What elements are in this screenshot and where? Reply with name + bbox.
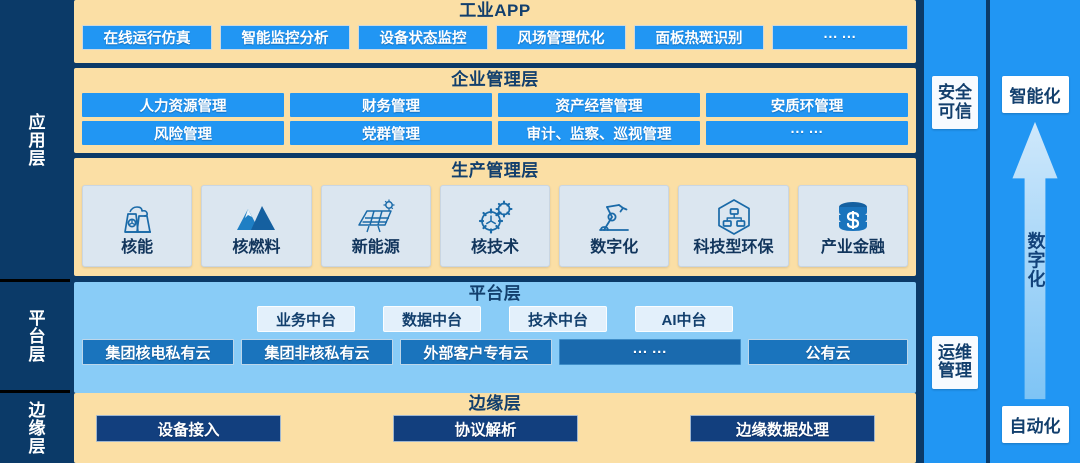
production-card-nuclear-power[interactable]: 核能 (82, 185, 192, 267)
ent-cell-audit-inspection[interactable]: 审计、监察、巡视管理 (498, 121, 700, 145)
mountains-icon (235, 196, 277, 238)
platform-title: 平台层 (82, 285, 908, 302)
cloud-external-customer-dedicated[interactable]: 外部客户专有云 (400, 339, 552, 365)
platform-band: 平台层 业务中台 数据中台 技术中台 AI中台 集团核电私有云 集团非核私有云 … (70, 282, 920, 393)
production-card-digitalization[interactable]: 数字化 (559, 185, 669, 267)
app-chip-more[interactable]: ··· ··· (772, 25, 908, 50)
architecture-diagram: 应用层 平台层 边缘层 工业APP 在线运行仿真 智能监控分析 设备状态监控 风… (0, 0, 1080, 463)
hexagon-network-icon (715, 196, 753, 238)
gears-radiation-icon (475, 196, 515, 238)
ent-cell-asset-operation[interactable]: 资产经营管理 (498, 93, 700, 117)
enterprise-row-1: 人力资源管理 财务管理 资产经营管理 安质环管理 (82, 93, 908, 117)
sidebar-item-edge-layer[interactable]: 边缘层 (0, 393, 70, 463)
production-label-nuclear-power: 核能 (121, 240, 153, 256)
production-label-tech-environmental: 科技型环保 (694, 240, 774, 256)
middleware-ai[interactable]: AI中台 (635, 306, 733, 332)
production-card-nuclear-fuel[interactable]: 核燃料 (201, 185, 311, 267)
middleware-business[interactable]: 业务中台 (257, 306, 355, 332)
production-management-panel: 生产管理层 核能 (74, 158, 916, 276)
cloud-more[interactable]: ··· ··· (559, 339, 741, 365)
pill-operations-management[interactable]: 运维管理 (932, 336, 978, 389)
sidebar-item-platform-layer[interactable]: 平台层 (0, 282, 70, 393)
industrial-app-title: 工业APP (82, 2, 908, 19)
ent-cell-more[interactable]: ··· ··· (706, 121, 908, 145)
sidebar-label-edge-layer: 边缘层 (25, 401, 44, 455)
app-chip-equipment-status[interactable]: 设备状态监控 (358, 25, 488, 50)
middleware-technology[interactable]: 技术中台 (509, 306, 607, 332)
production-card-nuclear-technology[interactable]: 核技术 (440, 185, 550, 267)
enterprise-grid: 人力资源管理 财务管理 资产经营管理 安质环管理 风险管理 党群管理 审计、监察… (82, 93, 908, 145)
ent-cell-hr[interactable]: 人力资源管理 (82, 93, 284, 117)
edge-button-device-access[interactable]: 设备接入 (96, 415, 281, 442)
layer-sidebar: 应用层 平台层 边缘层 (0, 0, 70, 463)
edge-button-edge-data-processing[interactable]: 边缘数据处理 (690, 415, 875, 442)
cross-cutting-column: 安全可信 运维管理 (924, 0, 986, 463)
production-card-new-energy[interactable]: 新能源 (321, 185, 431, 267)
production-card-tech-environmental[interactable]: 科技型环保 (678, 185, 788, 267)
app-chip-online-simulation[interactable]: 在线运行仿真 (82, 25, 212, 50)
maturity-column: 智能化 数字化 自动化 (990, 0, 1080, 463)
enterprise-row-2: 风险管理 党群管理 审计、监察、巡视管理 ··· ··· (82, 121, 908, 145)
pill-security-trusted[interactable]: 安全可信 (932, 76, 978, 129)
app-chip-wind-farm-optimization[interactable]: 风场管理优化 (496, 25, 626, 50)
app-chip-smart-monitoring[interactable]: 智能监控分析 (220, 25, 350, 50)
production-label-industrial-finance: 产业金融 (821, 240, 885, 256)
production-label-nuclear-fuel: 核燃料 (232, 240, 280, 256)
production-label-new-energy: 新能源 (352, 240, 400, 256)
production-title: 生产管理层 (82, 162, 908, 179)
nuclear-plant-icon (117, 196, 157, 238)
production-label-digitalization: 数字化 (590, 240, 638, 256)
ent-cell-party-group[interactable]: 党群管理 (290, 121, 492, 145)
ent-cell-risk[interactable]: 风险管理 (82, 121, 284, 145)
middleware-row: 业务中台 数据中台 技术中台 AI中台 (82, 306, 908, 332)
ent-cell-finance[interactable]: 财务管理 (290, 93, 492, 117)
industrial-app-chip-row: 在线运行仿真 智能监控分析 设备状态监控 风场管理优化 面板热斑识别 ··· ·… (82, 25, 908, 50)
production-card-row: 核能 核燃料 (82, 185, 908, 267)
edge-band: 边缘层 设备接入 协议解析 边缘数据处理 (70, 393, 920, 463)
maturity-arrow-label: 数字化 (1026, 231, 1045, 288)
production-card-industrial-finance[interactable]: 产业金融 (798, 185, 908, 267)
maturity-cap-automation: 自动化 (1002, 406, 1069, 443)
enterprise-title: 企业管理层 (82, 71, 908, 88)
sidebar-label-application-layer: 应用层 (25, 113, 44, 167)
cloud-group-nonnuclear-private[interactable]: 集团非核私有云 (241, 339, 393, 365)
cloud-public[interactable]: 公有云 (748, 339, 908, 365)
production-label-nuclear-technology: 核技术 (471, 240, 519, 256)
platform-panel: 平台层 业务中台 数据中台 技术中台 AI中台 集团核电私有云 集团非核私有云 … (74, 282, 916, 393)
industrial-app-panel: 工业APP 在线运行仿真 智能监控分析 设备状态监控 风场管理优化 面板热斑识别… (74, 0, 916, 63)
app-chip-panel-hotspot[interactable]: 面板热斑识别 (634, 25, 764, 50)
cloud-group-nuclear-private[interactable]: 集团核电私有云 (82, 339, 234, 365)
maturity-arrow-wrap: 数字化 (1009, 113, 1061, 406)
edge-button-protocol-parsing[interactable]: 协议解析 (393, 415, 578, 442)
cloud-row: 集团核电私有云 集团非核私有云 外部客户专有云 ··· ··· 公有云 (82, 339, 908, 365)
edge-button-row: 设备接入 协议解析 边缘数据处理 (82, 415, 908, 442)
layer-stack: 工业APP 在线运行仿真 智能监控分析 设备状态监控 风场管理优化 面板热斑识别… (70, 0, 920, 463)
coin-stack-dollar-icon (833, 196, 873, 238)
application-band: 工业APP 在线运行仿真 智能监控分析 设备状态监控 风场管理优化 面板热斑识别… (70, 0, 920, 282)
maturity-cap-intelligent: 智能化 (1002, 76, 1069, 113)
robot-arm-icon (594, 196, 634, 238)
sidebar-item-application-layer[interactable]: 应用层 (0, 0, 70, 282)
solar-panel-icon (355, 196, 397, 238)
middleware-data[interactable]: 数据中台 (383, 306, 481, 332)
edge-panel: 边缘层 设备接入 协议解析 边缘数据处理 (74, 393, 916, 463)
edge-title: 边缘层 (82, 395, 908, 412)
enterprise-management-panel: 企业管理层 人力资源管理 财务管理 资产经营管理 安质环管理 风险管理 党群管理… (74, 68, 916, 153)
ent-cell-safety-quality-env[interactable]: 安质环管理 (706, 93, 908, 117)
sidebar-label-platform-layer: 平台层 (25, 309, 44, 363)
